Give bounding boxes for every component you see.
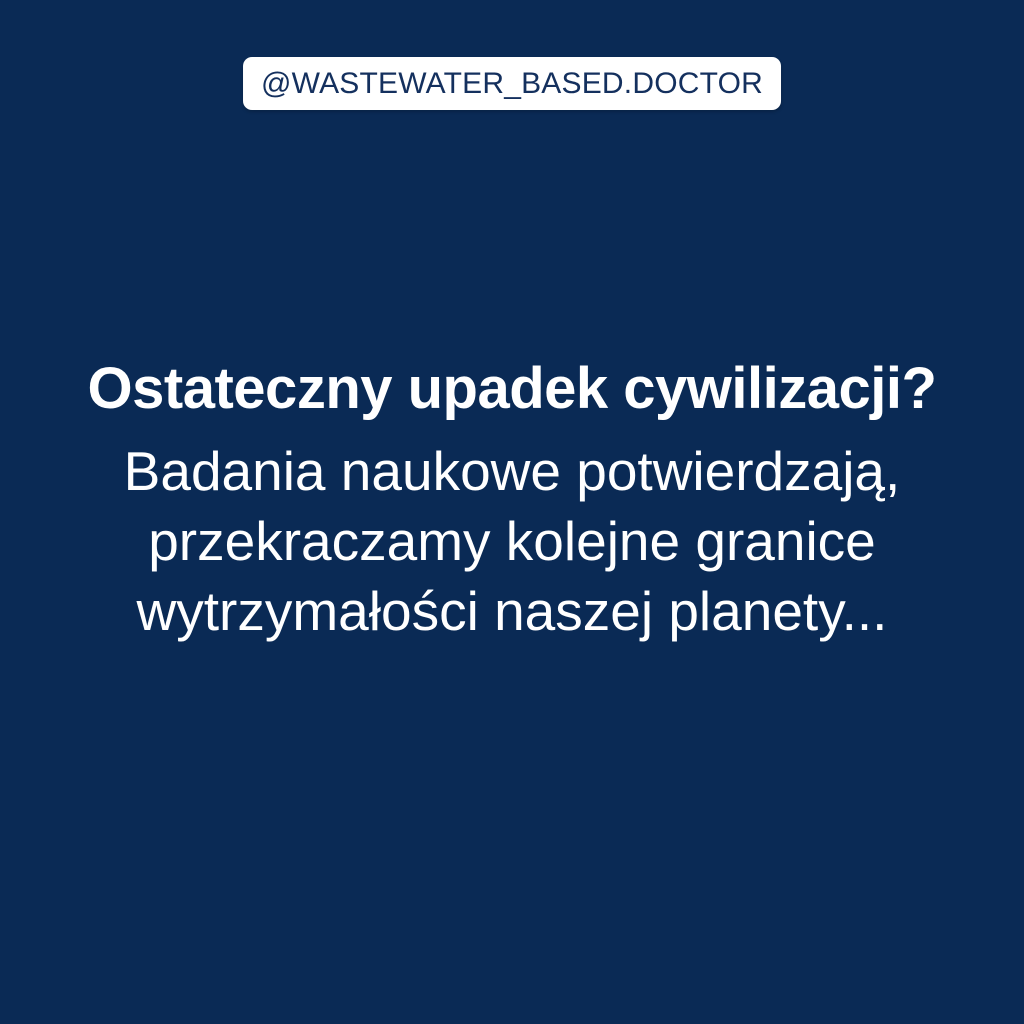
body-line-2: przekraczamy kolejne granice [0,506,1024,576]
account-handle-label: @WASTEWATER_BASED.DOCTOR [261,69,763,99]
body-line-3: wytrzymałości naszej planety... [0,576,1024,646]
headline: Ostateczny upadek cywilizacji? [0,360,1024,418]
account-handle-badge[interactable]: @WASTEWATER_BASED.DOCTOR [243,57,781,110]
body-line-1: Badania naukowe potwierdzają, [0,436,1024,506]
message-block: Ostateczny upadek cywilizacji? Badania n… [0,360,1024,646]
social-post-card: @WASTEWATER_BASED.DOCTOR Ostateczny upad… [0,0,1024,1024]
